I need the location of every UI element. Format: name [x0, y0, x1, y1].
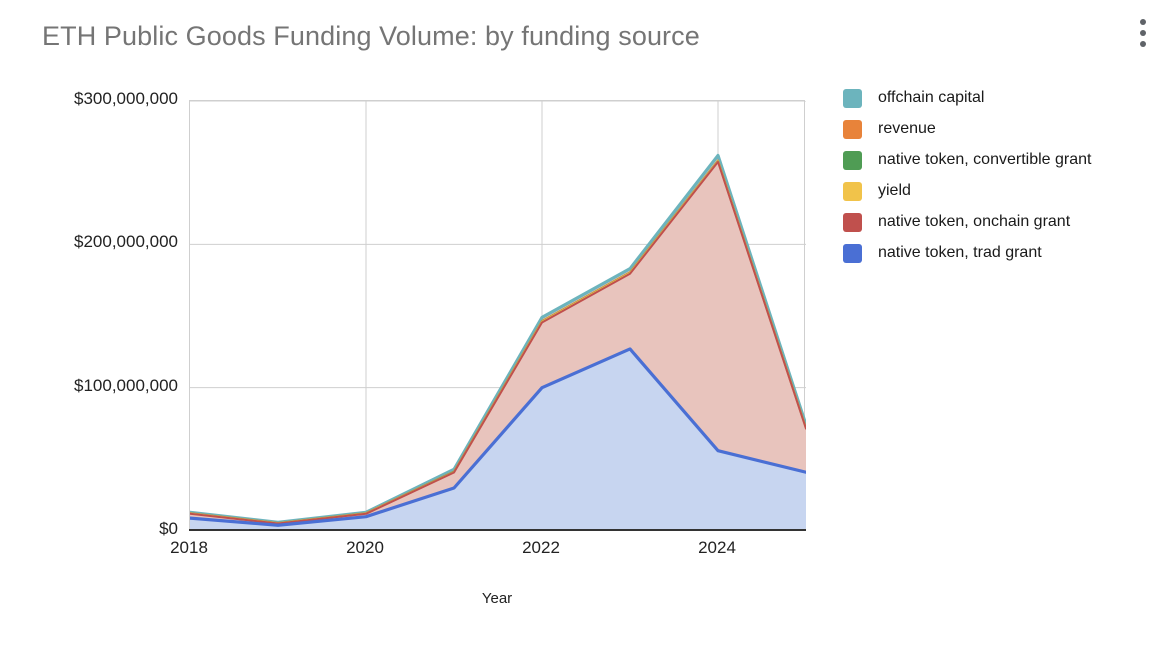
legend-swatch-icon [843, 89, 862, 108]
x-axis-tick-label: 2022 [522, 538, 560, 558]
legend-swatch-icon [843, 244, 862, 263]
y-axis-tick-label: $300,000,000 [0, 89, 178, 109]
more-options-icon[interactable] [1132, 10, 1154, 56]
legend-item-native-token-convertible-grant[interactable]: native token, convertible grant [843, 150, 1163, 170]
legend-item-label: offchain capital [878, 88, 984, 107]
y-axis-tick-label: $0 [0, 519, 178, 539]
chart-card: ETH Public Goods Funding Volume: by fund… [0, 0, 1172, 648]
x-axis-title: Year [482, 590, 512, 607]
menu-dot [1140, 30, 1146, 36]
x-axis-tick-label: 2020 [346, 538, 384, 558]
legend-item-native-token-trad-grant[interactable]: native token, trad grant [843, 243, 1163, 263]
legend-item-label: native token, onchain grant [878, 212, 1070, 232]
legend-item-label: native token, trad grant [878, 243, 1042, 262]
legend-item-native-token-onchain-grant[interactable]: native token, onchain grant [843, 212, 1163, 232]
chart-legend: offchain capitalrevenuenative token, con… [843, 88, 1163, 274]
legend-item-revenue[interactable]: revenue [843, 119, 1163, 139]
legend-item-offchain-capital[interactable]: offchain capital [843, 88, 1163, 108]
legend-swatch-icon [843, 120, 862, 139]
x-axis-tick-labels: 2018202020222024 [0, 538, 900, 568]
y-axis-tick-label: $200,000,000 [0, 232, 178, 252]
x-axis-line [189, 529, 806, 531]
plot-area [189, 100, 805, 530]
menu-dot [1140, 41, 1146, 47]
legend-item-label: revenue [878, 119, 936, 138]
x-axis-tick-label: 2018 [170, 538, 208, 558]
y-axis-tick-label: $100,000,000 [0, 376, 178, 396]
area-chart-svg [190, 101, 806, 531]
x-axis-tick-label: 2024 [698, 538, 736, 558]
legend-item-label: native token, convertible grant [878, 150, 1091, 170]
legend-swatch-icon [843, 213, 862, 232]
legend-swatch-icon [843, 182, 862, 201]
legend-item-label: yield [878, 181, 911, 200]
legend-item-yield[interactable]: yield [843, 181, 1163, 201]
legend-swatch-icon [843, 151, 862, 170]
menu-dot [1140, 19, 1146, 25]
